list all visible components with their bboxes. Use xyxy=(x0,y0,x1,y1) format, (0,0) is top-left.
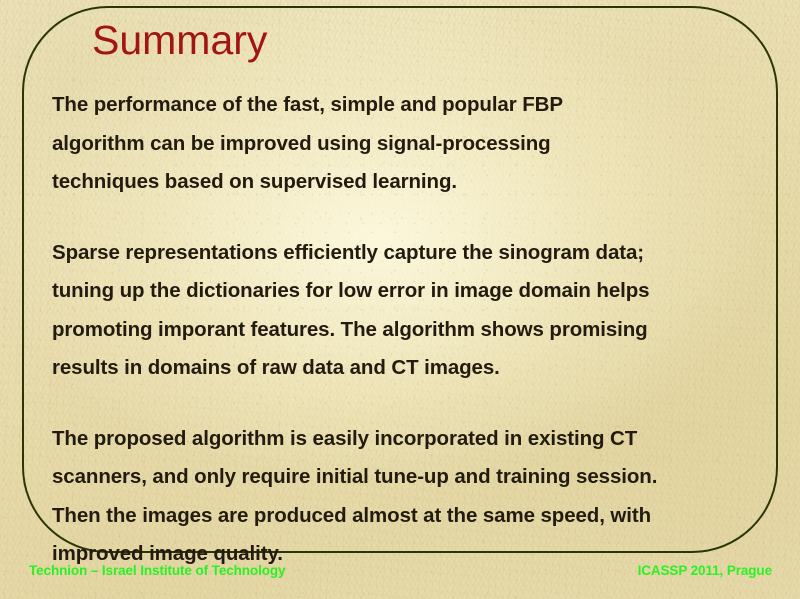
paragraph-1: The performance of the fast, simple and … xyxy=(52,86,742,202)
paragraph-2-line-1: Sparse representations efficiently captu… xyxy=(52,234,742,273)
paragraph-2-line-3: promoting imporant features. The algorit… xyxy=(52,311,742,350)
paragraph-3-line-2: scanners, and only require initial tune-… xyxy=(52,458,742,497)
paragraph-2-line-4: results in domains of raw data and CT im… xyxy=(52,349,742,388)
paragraph-1-line-1: The performance of the fast, simple and … xyxy=(52,86,742,125)
paragraph-1-line-3: techniques based on supervised learning. xyxy=(52,163,742,202)
paragraph-2: Sparse representations efficiently captu… xyxy=(52,234,742,388)
paragraph-2-line-2: tuning up the dictionaries for low error… xyxy=(52,272,742,311)
slide-body: The performance of the fast, simple and … xyxy=(52,86,742,574)
paragraph-1-line-2: algorithm can be improved using signal-p… xyxy=(52,125,742,164)
paragraph-3-line-1: The proposed algorithm is easily incorpo… xyxy=(52,420,742,459)
paragraph-3: The proposed algorithm is easily incorpo… xyxy=(52,420,742,574)
page-title: Summary xyxy=(92,16,267,64)
footer-affiliation: Technion – Israel Institute of Technolog… xyxy=(29,563,285,578)
paragraph-3-line-3: Then the images are produced almost at t… xyxy=(52,497,742,536)
footer-conference: ICASSP 2011, Prague xyxy=(638,563,772,578)
presentation-slide: Summary The performance of the fast, sim… xyxy=(0,0,800,599)
